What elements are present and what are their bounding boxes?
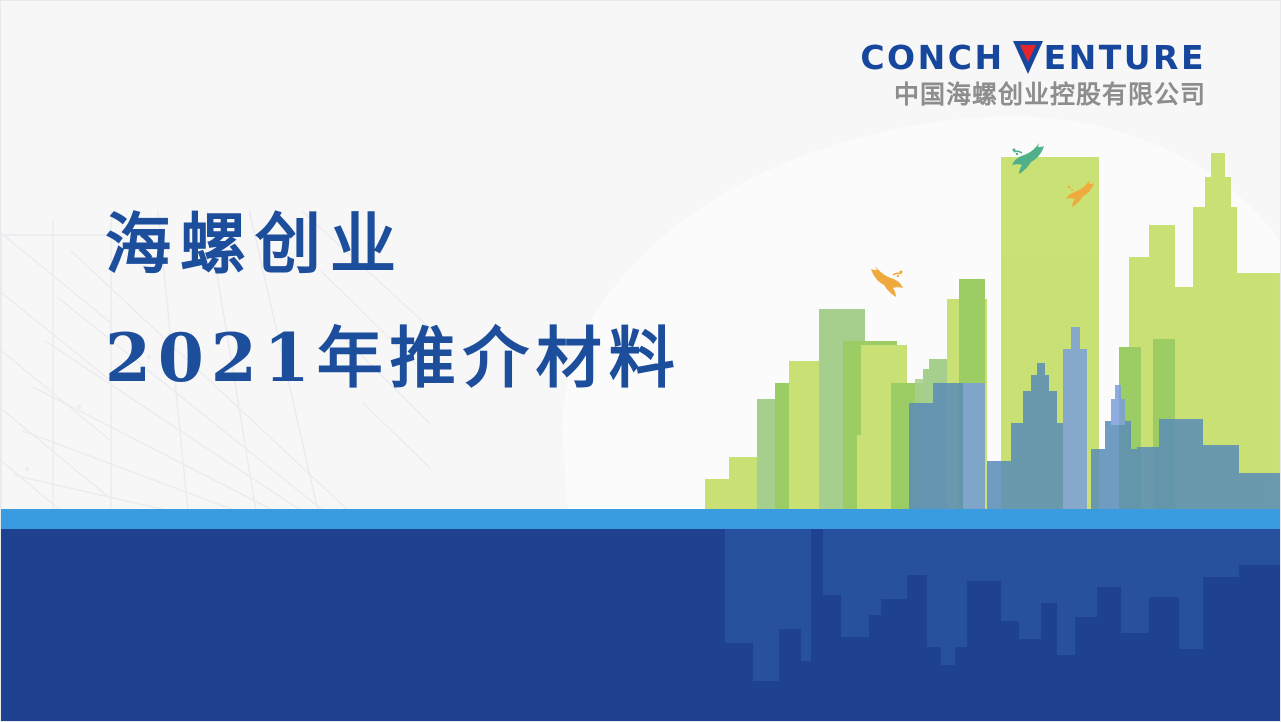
presentation-slide: 海螺创业 2021年推介材料 CONCH ENTURE 中国海螺创业控股有限公司: [0, 0, 1281, 722]
logo-brand-part-1: CONCH: [860, 41, 1004, 74]
dove-icon-teal: [1009, 141, 1049, 175]
dove-icon-amber-lower: [867, 263, 907, 297]
logo-company-name-cn: 中国海螺创业控股有限公司: [860, 81, 1206, 110]
water-band-light: [1, 509, 1281, 529]
water-band-deep: [1, 529, 1281, 722]
page-title-line-2: 2021年推介材料: [105, 301, 682, 415]
dove-icon-amber-upper: [1064, 179, 1098, 207]
logo-wordmark: CONCH ENTURE: [860, 41, 1206, 74]
skyline-water-reflection: [701, 529, 1281, 689]
logo-brand-part-2: ENTURE: [1044, 41, 1206, 74]
logo-v-accent-icon: [1013, 41, 1043, 74]
page-title-line-1: 海螺创业: [105, 187, 682, 301]
company-logo: CONCH ENTURE 中国海螺创业控股有限公司: [860, 41, 1206, 110]
slide-title: 海螺创业 2021年推介材料: [105, 187, 682, 415]
city-skyline-illustration: [701, 131, 1281, 511]
